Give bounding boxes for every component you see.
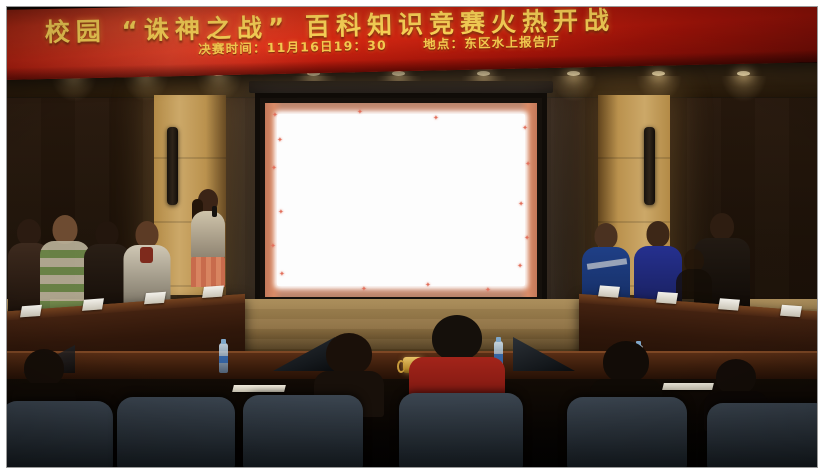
- contestant-name-card: [202, 285, 224, 298]
- auditorium-chair[interactable]: [707, 403, 817, 467]
- head: [432, 315, 482, 361]
- star-icon: ✦: [277, 137, 283, 144]
- star-icon: ✦: [270, 243, 276, 250]
- head: [17, 219, 41, 246]
- star-icon: ✦: [279, 271, 285, 278]
- star-icon: ✦: [517, 263, 523, 270]
- contestant-name-card: [780, 305, 802, 317]
- star-icon: ✦: [361, 286, 367, 293]
- contestant-name-card: [656, 292, 678, 304]
- head: [136, 221, 159, 248]
- star-icon: ✦: [357, 109, 363, 116]
- photo-frame: ✦ ✦ ✦ ✦ ✦ ✦ ✦ ✦ ✦ ✦ ✦ ✦ ✦ ✦ ✦: [0, 0, 825, 475]
- contestant-name-card: [598, 285, 620, 297]
- screen-roller-case: [249, 81, 553, 93]
- star-icon: ✦: [485, 287, 491, 294]
- star-icon: ✦: [522, 125, 528, 132]
- star-icon: ✦: [433, 115, 439, 122]
- slide-white-area: [277, 114, 525, 286]
- contestant-name-card: [718, 298, 740, 310]
- photo-inner-border: ✦ ✦ ✦ ✦ ✦ ✦ ✦ ✦ ✦ ✦ ✦ ✦ ✦ ✦ ✦: [6, 6, 818, 468]
- bottle-label: [219, 356, 228, 364]
- auditorium-chair[interactable]: [243, 395, 363, 467]
- auditorium-chair[interactable]: [399, 393, 523, 467]
- auditorium-chair[interactable]: [7, 401, 113, 467]
- auditorium-chair[interactable]: [117, 397, 235, 467]
- head: [716, 359, 756, 395]
- torso-jacket: [191, 211, 225, 259]
- downlight-glow: [721, 76, 767, 102]
- head: [326, 333, 372, 375]
- head: [647, 221, 670, 247]
- head: [24, 349, 64, 387]
- wall-speaker-left: [167, 127, 178, 205]
- head: [603, 341, 649, 383]
- contestant-name-card: [144, 292, 166, 305]
- head: [595, 223, 618, 249]
- star-icon: ✦: [518, 201, 524, 208]
- wall-speaker-right: [644, 127, 655, 205]
- contestant-name-card: [20, 305, 42, 318]
- screen-bezel: ✦ ✦ ✦ ✦ ✦ ✦ ✦ ✦ ✦ ✦ ✦ ✦ ✦ ✦ ✦: [255, 93, 547, 307]
- scarf: [140, 247, 153, 263]
- score-sheet: [232, 385, 286, 392]
- microphone-icon: [212, 206, 217, 217]
- star-icon: ✦: [272, 112, 278, 119]
- head: [710, 213, 734, 240]
- star-icon: ✦: [278, 209, 284, 216]
- head: [53, 215, 78, 244]
- auditorium-chair[interactable]: [567, 397, 687, 467]
- star-icon: ✦: [271, 165, 277, 172]
- contestant-name-card: [82, 298, 104, 311]
- downlight-glow: [51, 76, 97, 102]
- contestant-left-2: [41, 215, 89, 319]
- star-icon: ✦: [525, 161, 531, 168]
- star-icon: ✦: [425, 282, 431, 289]
- star-icon: ✦: [524, 235, 530, 242]
- auditorium-scene: ✦ ✦ ✦ ✦ ✦ ✦ ✦ ✦ ✦ ✦ ✦ ✦ ✦ ✦ ✦: [7, 7, 817, 467]
- host-with-microphone: [190, 189, 226, 299]
- skirt: [191, 257, 225, 287]
- water-bottle[interactable]: [219, 343, 228, 373]
- screen-surface: ✦ ✦ ✦ ✦ ✦ ✦ ✦ ✦ ✦ ✦ ✦ ✦ ✦ ✦ ✦: [265, 103, 537, 297]
- downlight-glow: [551, 76, 597, 102]
- projection-screen[interactable]: ✦ ✦ ✦ ✦ ✦ ✦ ✦ ✦ ✦ ✦ ✦ ✦ ✦ ✦ ✦: [255, 93, 547, 307]
